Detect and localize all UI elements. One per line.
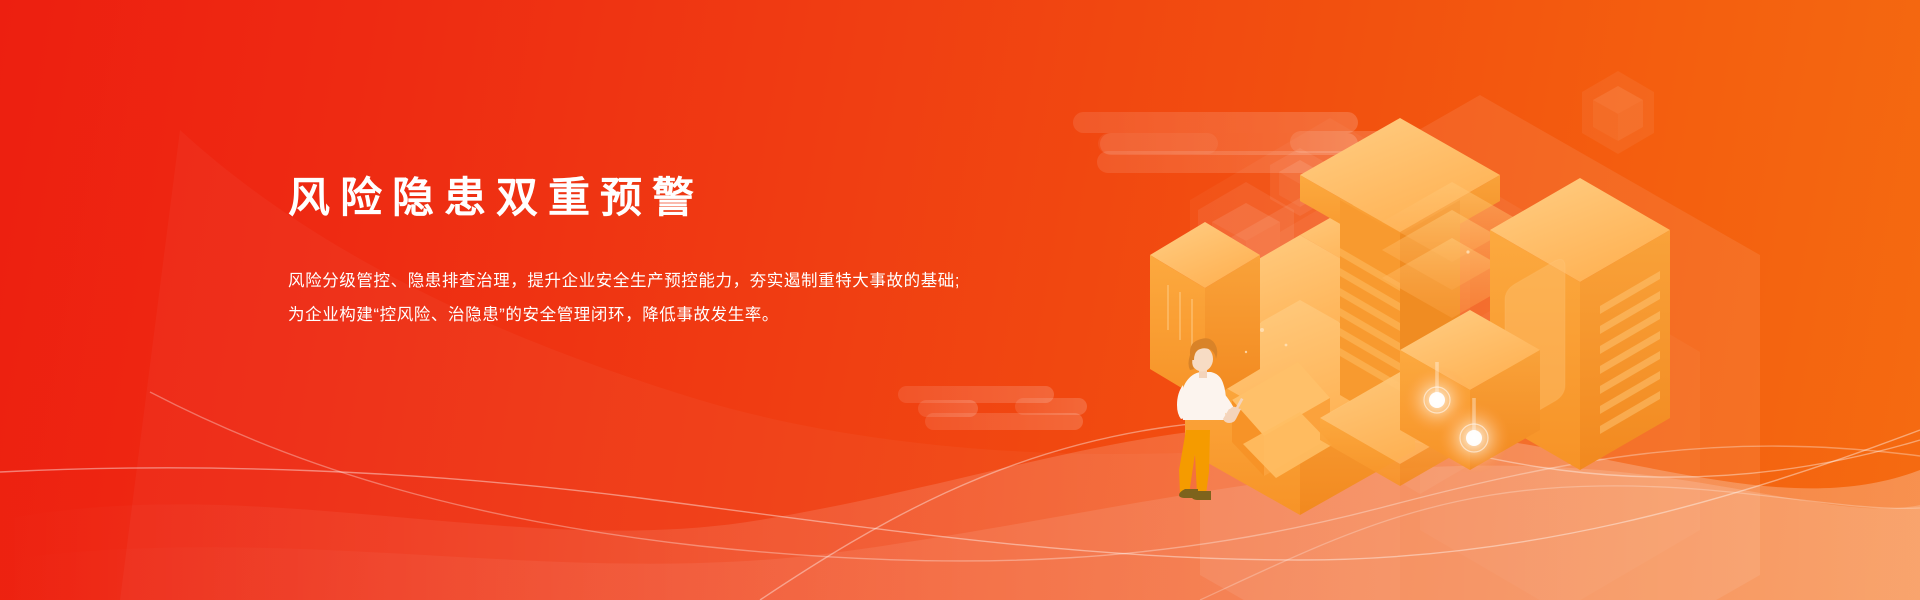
city-tower-right xyxy=(1490,178,1670,470)
description-line-2: 为企业构建“控风险、治隐患”的安全管理闭环，降低事故发生率。 xyxy=(288,299,1008,333)
hexagon-cube-right-icon xyxy=(1582,71,1654,154)
cloud-mid-icon xyxy=(898,386,1087,430)
banner-copy: 风险隐患双重预警 风险分级管控、隐患排查治理，提升企业安全生产预控能力，夯实遏制… xyxy=(288,175,1008,333)
glow-dot-upper xyxy=(1403,362,1471,434)
city-tower-left-thin xyxy=(1150,222,1260,402)
city-block-front xyxy=(1400,310,1540,470)
hexagon-cube-large-icon xyxy=(1198,182,1294,294)
hexagon-cube-small-icon xyxy=(1270,148,1330,216)
city-ghost-slabs xyxy=(1190,118,1700,600)
city-block-small-tilted xyxy=(1232,362,1332,478)
city-block-lower-left xyxy=(1185,300,1415,515)
glow-dot-lower xyxy=(1438,398,1510,474)
banner-description: 风险分级管控、隐患排查治理，提升企业安全生产预控能力，夯实遏制重特大事故的基础;… xyxy=(288,221,1008,333)
city-tower-center xyxy=(1300,118,1522,486)
city-block-left xyxy=(1205,194,1420,455)
sparkle-specks xyxy=(1245,250,1470,353)
hexagon-backdrop xyxy=(1200,95,1760,600)
hero-banner: 风险隐患双重预警 风险分级管控、隐患排查治理，提升企业安全生产预控能力，夯实遏制… xyxy=(0,0,1920,600)
page-title: 风险隐患双重预警 xyxy=(288,175,1008,221)
description-line-1: 风险分级管控、隐患排查治理，提升企业安全生产预控能力，夯实遏制重特大事故的基础; xyxy=(288,265,1008,299)
cloud-top-right-icon xyxy=(1073,112,1398,173)
